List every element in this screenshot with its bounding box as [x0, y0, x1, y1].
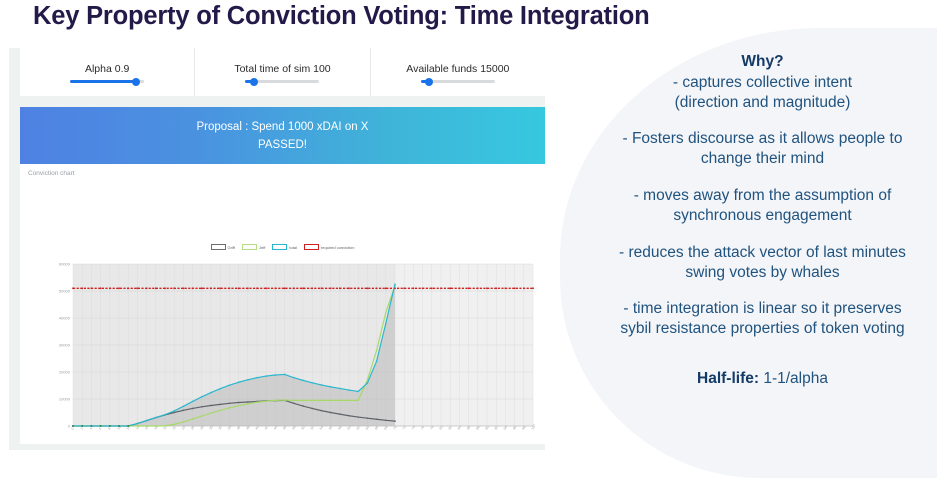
svg-text:30000: 30000: [59, 343, 71, 348]
simulation-app-window: Alpha 0.9 Total time of sim 100 Availabl…: [9, 48, 545, 450]
why-paragraph-5: - time integration is linear so it prese…: [588, 299, 937, 339]
legend-item-griff[interactable]: Griff: [211, 244, 235, 250]
proposal-title: Proposal : Spend 1000 xDAI on X: [197, 121, 369, 133]
svg-text:4: 4: [89, 427, 93, 431]
chart-card-title: Conviction chart: [28, 170, 75, 177]
chart-svg: 0100002000030000400005000060000024681012…: [51, 260, 535, 440]
svg-text:40000: 40000: [59, 316, 71, 321]
half-life-label: Half-life:: [697, 370, 759, 387]
conviction-chart-plot: 0100002000030000400005000060000024681012…: [51, 260, 535, 440]
legend-swatch-required-conviction: [304, 244, 319, 250]
slider-knob-total-time-of-sim[interactable]: [250, 78, 258, 86]
slider-track-total-time-of-sim[interactable]: [245, 80, 319, 83]
legend-swatch-jeff: [242, 244, 257, 250]
legend-label-jeff: Jeff: [259, 245, 265, 250]
slider-label-alpha: Alpha 0.9: [85, 63, 129, 75]
legend-label-required-conviction: required conviction: [321, 245, 355, 250]
slider-label-available-funds: Available funds 15000: [406, 63, 509, 75]
svg-text:0: 0: [70, 427, 74, 431]
legend-label-total: total: [289, 245, 297, 250]
slider-knob-alpha[interactable]: [132, 78, 140, 86]
chart-legend: Griff Jeff total required conviction: [20, 244, 545, 250]
slider-card-total-time-of-sim[interactable]: Total time of sim 100: [195, 48, 370, 96]
why-paragraph-1: - captures collective intent(direction a…: [588, 73, 937, 113]
slider-label-total-time-of-sim: Total time of sim 100: [234, 63, 330, 75]
legend-swatch-griff: [211, 244, 226, 250]
legend-swatch-total: [272, 244, 287, 250]
legend-item-required-conviction[interactable]: required conviction: [304, 244, 355, 250]
why-paragraph-4: - reduces the attack vector of last minu…: [588, 243, 937, 283]
conviction-chart-card: Conviction chart Griff Jeff total requir…: [20, 164, 545, 444]
proposal-status: PASSED!: [258, 139, 307, 151]
legend-item-total[interactable]: total: [272, 244, 297, 250]
why-panel: Why? - captures collective intent(direct…: [588, 52, 937, 452]
why-paragraph-3: - moves away from the assumption ofsynch…: [588, 186, 937, 226]
legend-label-griff: Griff: [228, 245, 235, 250]
svg-text:2: 2: [80, 427, 84, 431]
half-life-row: Half-life: 1-1/alpha: [588, 369, 937, 389]
svg-text:20000: 20000: [59, 370, 71, 375]
slider-controls-bar: Alpha 0.9 Total time of sim 100 Availabl…: [20, 48, 545, 96]
half-life-value: 1-1/alpha: [763, 370, 828, 387]
slider-track-available-funds[interactable]: [421, 80, 495, 83]
page-title: Key Property of Conviction Voting: Time …: [33, 2, 733, 36]
proposal-banner: Proposal : Spend 1000 xDAI on X PASSED!: [20, 107, 545, 164]
svg-text:10000: 10000: [59, 397, 71, 402]
slider-knob-available-funds[interactable]: [425, 78, 433, 86]
slider-card-available-funds[interactable]: Available funds 15000: [371, 48, 545, 96]
slider-fill-alpha: [70, 80, 135, 83]
svg-text:50000: 50000: [59, 289, 71, 294]
svg-text:60000: 60000: [59, 262, 71, 267]
why-paragraph-2: - Fosters discourse as it allows people …: [588, 129, 937, 169]
slider-card-alpha[interactable]: Alpha 0.9: [20, 48, 195, 96]
svg-text:8: 8: [107, 427, 111, 431]
svg-text:6: 6: [98, 427, 102, 431]
slider-track-alpha[interactable]: [70, 80, 144, 83]
legend-item-jeff[interactable]: Jeff: [242, 244, 265, 250]
why-heading: Why?: [588, 52, 937, 72]
